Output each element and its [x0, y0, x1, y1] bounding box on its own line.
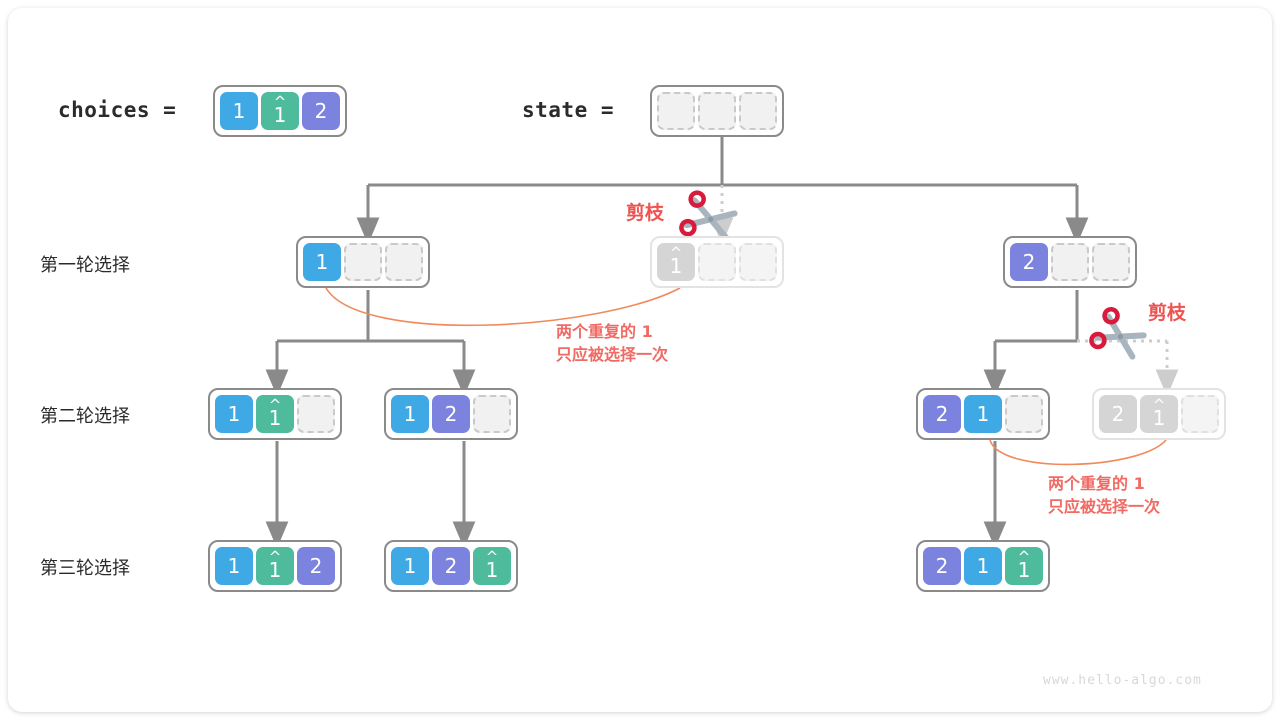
r2-b-cell-0: 1: [391, 395, 429, 433]
cell-value: 1: [316, 252, 329, 272]
state-cell-1: [698, 92, 736, 130]
r3-b-cell-2: ^1: [473, 547, 511, 585]
r3-a-cell-1: ^1: [256, 547, 294, 585]
hat-accent-icon: ^: [1005, 550, 1043, 565]
prune-label-right: 剪枝: [1148, 298, 1186, 325]
r1-middle-cell-2: [739, 243, 777, 281]
note-right-line2: 只应被选择一次: [1048, 495, 1160, 518]
node-round1-middle-pruned: ^1: [650, 236, 784, 288]
cell-value: 1: [233, 101, 246, 121]
prune-label-left: 剪枝: [626, 198, 664, 225]
cell-value: 1: [404, 404, 417, 424]
choices-cell-0: 1: [220, 92, 258, 130]
hat-accent-icon: ^: [1140, 398, 1178, 413]
hat-accent-icon: ^: [473, 550, 511, 565]
r2-a-cell-0: 1: [215, 395, 253, 433]
r1-right-cell-1: [1051, 243, 1089, 281]
watermark: www.hello-algo.com: [1043, 673, 1202, 688]
row-label-round1: 第一轮选择: [40, 251, 130, 277]
choices-array: 1^12: [213, 85, 347, 137]
cell-value: 2: [936, 404, 949, 424]
note-right-line1: 两个重复的 1: [1048, 472, 1160, 495]
node-round2-c: 21: [916, 388, 1050, 440]
state-cell-0: [657, 92, 695, 130]
r1-middle-cell-0: ^1: [657, 243, 695, 281]
state-array: [650, 85, 784, 137]
node-round2-a: 1^1: [208, 388, 342, 440]
r2-a-cell-2: [297, 395, 335, 433]
cell-value: 1: [404, 556, 417, 576]
r2-b-cell-2: [473, 395, 511, 433]
node-round1-left: 1: [296, 236, 430, 288]
row-label-round3: 第三轮选择: [40, 554, 130, 580]
choices-label: choices =: [58, 98, 176, 122]
r2-d-cell-1: ^1: [1140, 395, 1178, 433]
cell-value: 1: [228, 404, 241, 424]
r2-d-cell-0: 2: [1099, 395, 1137, 433]
r1-middle-cell-1: [698, 243, 736, 281]
r1-right-cell-2: [1092, 243, 1130, 281]
node-round1-right: 2: [1003, 236, 1137, 288]
r3-c-cell-1: 1: [964, 547, 1002, 585]
node-round3-a: 1^12: [208, 540, 342, 592]
r3-a-cell-2: 2: [297, 547, 335, 585]
note-left-line1: 两个重复的 1: [556, 320, 668, 343]
r2-c-cell-2: [1005, 395, 1043, 433]
r2-c-cell-1: 1: [964, 395, 1002, 433]
r1-left-cell-2: [385, 243, 423, 281]
note-right: 两个重复的 1 只应被选择一次: [1048, 472, 1160, 518]
choices-cell-1: ^1: [261, 92, 299, 130]
state-label: state =: [522, 98, 614, 122]
node-round3-c: 21^1: [916, 540, 1050, 592]
cell-value: 2: [310, 556, 323, 576]
hat-accent-icon: ^: [256, 550, 294, 565]
cell-value: 2: [445, 404, 458, 424]
r1-right-cell-0: 2: [1010, 243, 1048, 281]
cell-value: 2: [1112, 404, 1125, 424]
hat-accent-icon: ^: [256, 398, 294, 413]
note-left-line2: 只应被选择一次: [556, 343, 668, 366]
node-round2-d-pruned: 2^1: [1092, 388, 1226, 440]
r1-left-cell-0: 1: [303, 243, 341, 281]
hat-accent-icon: ^: [261, 95, 299, 110]
cell-value: 1: [228, 556, 241, 576]
node-round3-b: 12^1: [384, 540, 518, 592]
r3-b-cell-1: 2: [432, 547, 470, 585]
r2-a-cell-1: ^1: [256, 395, 294, 433]
cell-value: 2: [315, 101, 328, 121]
hat-accent-icon: ^: [657, 246, 695, 261]
r2-b-cell-1: 2: [432, 395, 470, 433]
cell-value: 1: [977, 556, 990, 576]
cell-value: 1: [977, 404, 990, 424]
r2-d-cell-2: [1181, 395, 1219, 433]
cell-value: 2: [936, 556, 949, 576]
r3-c-cell-2: ^1: [1005, 547, 1043, 585]
note-left: 两个重复的 1 只应被选择一次: [556, 320, 668, 366]
state-cell-2: [739, 92, 777, 130]
r3-a-cell-0: 1: [215, 547, 253, 585]
node-round2-b: 12: [384, 388, 518, 440]
r2-c-cell-0: 2: [923, 395, 961, 433]
r1-left-cell-1: [344, 243, 382, 281]
cell-value: 2: [445, 556, 458, 576]
cell-value: 2: [1023, 252, 1036, 272]
r3-c-cell-0: 2: [923, 547, 961, 585]
diagram-canvas: choices = 1^12 state = 第一轮选择 第二轮选择 第三轮选择…: [0, 0, 1280, 720]
row-label-round2: 第二轮选择: [40, 402, 130, 428]
choices-cell-2: 2: [302, 92, 340, 130]
r3-b-cell-0: 1: [391, 547, 429, 585]
